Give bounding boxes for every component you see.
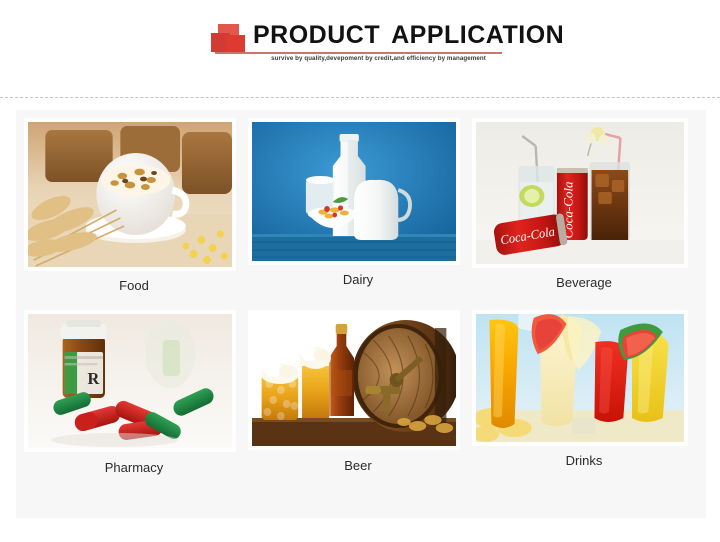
gallery-caption-dairy: Dairy xyxy=(248,272,468,287)
brand-lockup: PRODUCTAPPLICATION survive by quality,de… xyxy=(211,21,511,71)
gallery-card-drinks[interactable] xyxy=(472,310,688,446)
page-title: PRODUCTAPPLICATION xyxy=(253,21,564,50)
gallery-card-dairy[interactable] xyxy=(248,118,460,265)
page-header: PRODUCTAPPLICATION survive by quality,de… xyxy=(0,0,720,95)
page-title-word-product: PRODUCT xyxy=(253,21,380,49)
svg-text:R: R xyxy=(88,369,101,388)
gallery-card-beer[interactable] xyxy=(248,310,460,450)
beer-image xyxy=(252,314,456,446)
gallery-thumb-beer xyxy=(252,314,456,446)
beverage-image: Coca-Cola Coca-Cola xyxy=(476,122,684,264)
gallery-caption-pharmacy: Pharmacy xyxy=(24,460,244,475)
gallery-panel: Food xyxy=(16,110,706,518)
two-red-squares-logo-icon xyxy=(211,24,245,53)
page-subtitle: survive by quality,devepoment by credit,… xyxy=(255,55,502,62)
header-divider xyxy=(0,97,720,98)
title-underline-rule xyxy=(215,52,502,54)
gallery-thumb-dairy xyxy=(252,122,456,261)
dairy-image xyxy=(252,122,456,261)
gallery-thumb-beverage: Coca-Cola Coca-Cola xyxy=(476,122,684,264)
pharmacy-image: R xyxy=(28,314,232,448)
gallery-thumb-drinks xyxy=(476,314,684,442)
page-title-word-application: APPLICATION xyxy=(391,21,564,49)
food-image xyxy=(28,122,232,267)
product-application-page: PRODUCTAPPLICATION survive by quality,de… xyxy=(0,0,720,542)
gallery-caption-beverage: Beverage xyxy=(472,275,696,290)
gallery-card-food[interactable] xyxy=(24,118,236,271)
gallery-thumb-food xyxy=(28,122,232,267)
gallery-caption-beer: Beer xyxy=(248,458,468,473)
gallery-card-beverage[interactable]: Coca-Cola Coca-Cola xyxy=(472,118,688,268)
gallery-item-food[interactable]: Food xyxy=(24,118,244,303)
gallery-card-pharmacy[interactable]: R xyxy=(24,310,236,452)
gallery-item-pharmacy[interactable]: R xyxy=(24,310,244,495)
gallery-item-dairy[interactable]: Dairy xyxy=(248,118,468,303)
gallery-grid: Food xyxy=(16,110,706,518)
gallery-item-drinks[interactable]: Drinks xyxy=(472,310,696,495)
gallery-thumb-pharmacy: R xyxy=(28,314,232,448)
gallery-caption-food: Food xyxy=(24,278,244,293)
gallery-item-beverage[interactable]: Coca-Cola Coca-Cola Beverage xyxy=(472,118,696,303)
gallery-item-beer[interactable]: Beer xyxy=(248,310,468,495)
logo-square-right xyxy=(226,35,245,53)
drinks-image xyxy=(476,314,684,442)
gallery-caption-drinks: Drinks xyxy=(472,453,696,468)
